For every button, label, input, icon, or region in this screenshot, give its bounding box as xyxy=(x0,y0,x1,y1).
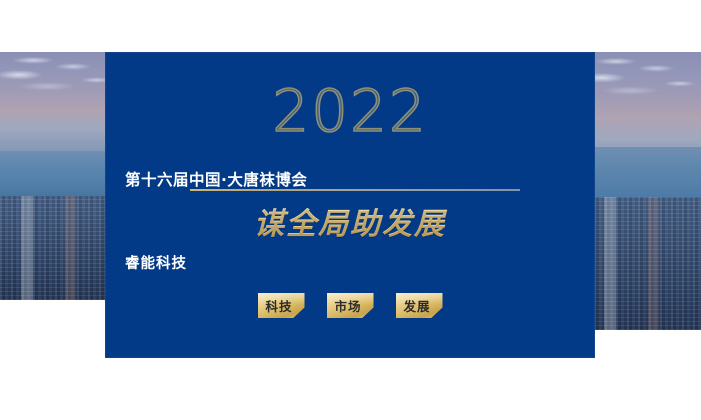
event-title: 第十六届中国·大唐袜博会 xyxy=(125,168,307,190)
keyword-tag-market-label: 市场 xyxy=(334,296,361,315)
aerial-cityscape-photo-left xyxy=(0,52,118,300)
poster-stage: 2022 第十六届中国·大唐袜博会 谋全局助发展 睿能科技 科技 市场 发展 xyxy=(0,0,701,420)
year-watermark: 2022 xyxy=(105,82,595,140)
title-divider xyxy=(190,189,520,191)
photo-left-layers xyxy=(0,52,118,300)
company-name: 睿能科技 xyxy=(125,252,187,273)
keyword-tag-group: 科技 市场 发展 xyxy=(105,293,595,318)
keyword-tag-market[interactable]: 市场 xyxy=(327,293,374,318)
slogan-text: 谋全局助发展 xyxy=(105,199,595,243)
keyword-tag-development-label: 发展 xyxy=(403,296,430,315)
keyword-tag-technology[interactable]: 科技 xyxy=(258,293,305,318)
skyline-layer xyxy=(583,197,701,330)
content-panel: 2022 第十六届中国·大唐袜博会 谋全局助发展 睿能科技 科技 市场 发展 xyxy=(105,52,595,358)
aerial-cityscape-photo-right xyxy=(583,52,701,330)
keyword-tag-technology-label: 科技 xyxy=(265,296,292,315)
skyline-layer xyxy=(0,196,118,300)
clouds-layer xyxy=(0,52,118,156)
photo-right-layers xyxy=(583,52,701,330)
keyword-tag-development[interactable]: 发展 xyxy=(396,293,443,318)
